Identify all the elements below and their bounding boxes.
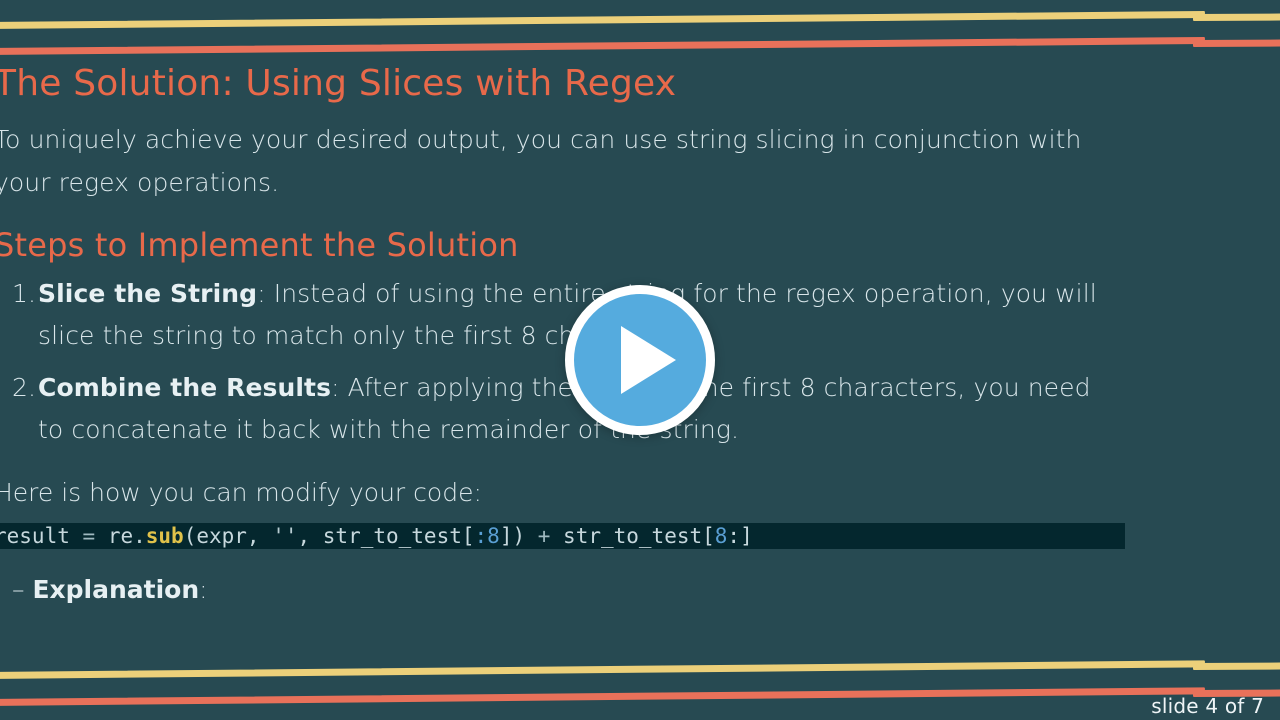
top-yellow-rule-tail [1193,13,1280,21]
explanation-colon: : [199,575,207,604]
bottom-coral-rule [0,687,1205,706]
slide-counter: slide 4 of 7 [1151,694,1264,718]
step-term: Combine the Results [38,373,331,402]
steps-list: 1.Slice the String: Instead of using the… [0,273,1114,451]
code-token-num: :8 [475,524,500,548]
explanation-line: – Explanation: [0,571,1114,609]
code-token-op: = [83,524,108,548]
section-heading: Steps to Implement the Solution [0,228,1114,263]
code-token-plain: (expr, [184,524,273,548]
video-slide: The Solution: Using Slices with Regex To… [0,0,1280,720]
code-token-plain: result [0,524,83,548]
step-term: Slice the String [38,279,257,308]
bottom-yellow-rule [0,660,1205,679]
code-token-plain: ]) [500,524,538,548]
bottom-yellow-rule-tail [1193,662,1280,670]
code-token-str: '' [272,524,297,548]
play-button[interactable] [565,285,715,435]
slide-title: The Solution: Using Slices with Regex [0,64,1114,104]
code-block: result = re.sub(expr, '', str_to_test[:8… [0,523,1125,549]
list-item: 1.Slice the String: Instead of using the… [0,273,1114,357]
code-tokens: result = re.sub(expr, '', str_to_test[:8… [0,524,753,548]
top-coral-rule [0,37,1205,55]
list-item: 2.Combine the Results: After applying th… [0,367,1114,451]
code-token-num: 8 [715,524,728,548]
slide-content: The Solution: Using Slices with Regex To… [0,64,1114,608]
code-token-plain: , str_to_test[ [298,524,475,548]
code-lead-in: Here is how you can modify your code: [0,473,1114,513]
code-token-plain: :] [727,524,752,548]
top-yellow-rule [0,11,1205,29]
code-token-plain: str_to_test[ [563,524,715,548]
step-number: 2. [12,367,36,409]
code-token-plain: re. [108,524,146,548]
intro-paragraph: To uniquely achieve your desired output,… [0,118,1114,204]
code-token-op: + [538,524,563,548]
play-icon [621,326,676,394]
step-number: 1. [12,273,36,315]
explanation-dash: – [12,575,25,604]
code-token-fn: sub [146,524,184,548]
explanation-label: Explanation [32,575,199,604]
top-coral-rule-tail [1193,39,1280,47]
